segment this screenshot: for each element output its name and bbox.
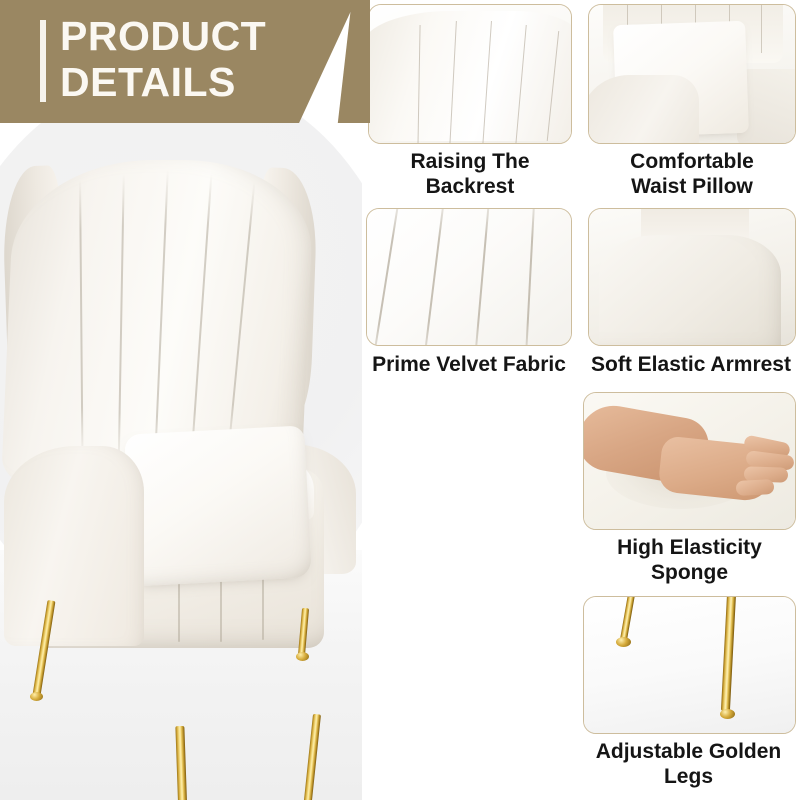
- chair-leg-front-right: [303, 714, 321, 800]
- backrest-channel: [118, 174, 125, 466]
- chair-leg-front-left: [175, 726, 189, 800]
- feature-card-raising-the-backrest[interactable]: [368, 4, 572, 144]
- feature-caption-soft-elastic-armrest: Soft Elastic Armrest: [582, 352, 800, 377]
- feature-card-adjustable-golden-legs[interactable]: [583, 596, 796, 734]
- chair-arm-left: [4, 446, 144, 646]
- feature-card-high-elasticity-sponge[interactable]: [583, 392, 796, 530]
- page-title: PRODUCT DETAILS: [60, 13, 266, 105]
- product-details-page: PRODUCT DETAILS: [0, 0, 800, 800]
- feature-image-adjustable-golden-legs: [584, 597, 795, 733]
- chair-foot-rear-right: [296, 652, 309, 661]
- feature-caption-high-elasticity-sponge: High Elasticity Sponge: [583, 535, 796, 585]
- feature-image-raising-the-backrest: [369, 5, 571, 143]
- hero-product-image: [0, 108, 362, 800]
- feature-caption-raising-the-backrest: Raising The Backrest: [368, 149, 572, 199]
- feature-caption-adjustable-golden-legs: Adjustable Golden Legs: [577, 739, 800, 789]
- header-accent-bar: [40, 20, 46, 102]
- feature-image-prime-velvet-fabric: [367, 209, 571, 345]
- chair-foot-rear-left: [30, 692, 43, 701]
- chair-illustration: [0, 108, 362, 800]
- feature-card-soft-elastic-armrest[interactable]: [588, 208, 796, 346]
- throw-pillow: [124, 425, 312, 586]
- feature-card-prime-velvet-fabric[interactable]: [366, 208, 572, 346]
- backrest-channel: [154, 170, 169, 470]
- backrest-channel: [79, 180, 83, 458]
- backrest-channel: [227, 182, 255, 454]
- feature-caption-prime-velvet-fabric: Prime Velvet Fabric: [358, 352, 580, 377]
- feature-image-soft-elastic-armrest: [589, 209, 795, 345]
- feature-image-comfortable-waist-pillow: [589, 5, 795, 143]
- feature-card-comfortable-waist-pillow[interactable]: [588, 4, 796, 144]
- backrest-channel: [190, 174, 212, 466]
- feature-image-high-elasticity-sponge: [584, 393, 795, 529]
- feature-caption-comfortable-waist-pillow: Comfortable Waist Pillow: [588, 149, 796, 199]
